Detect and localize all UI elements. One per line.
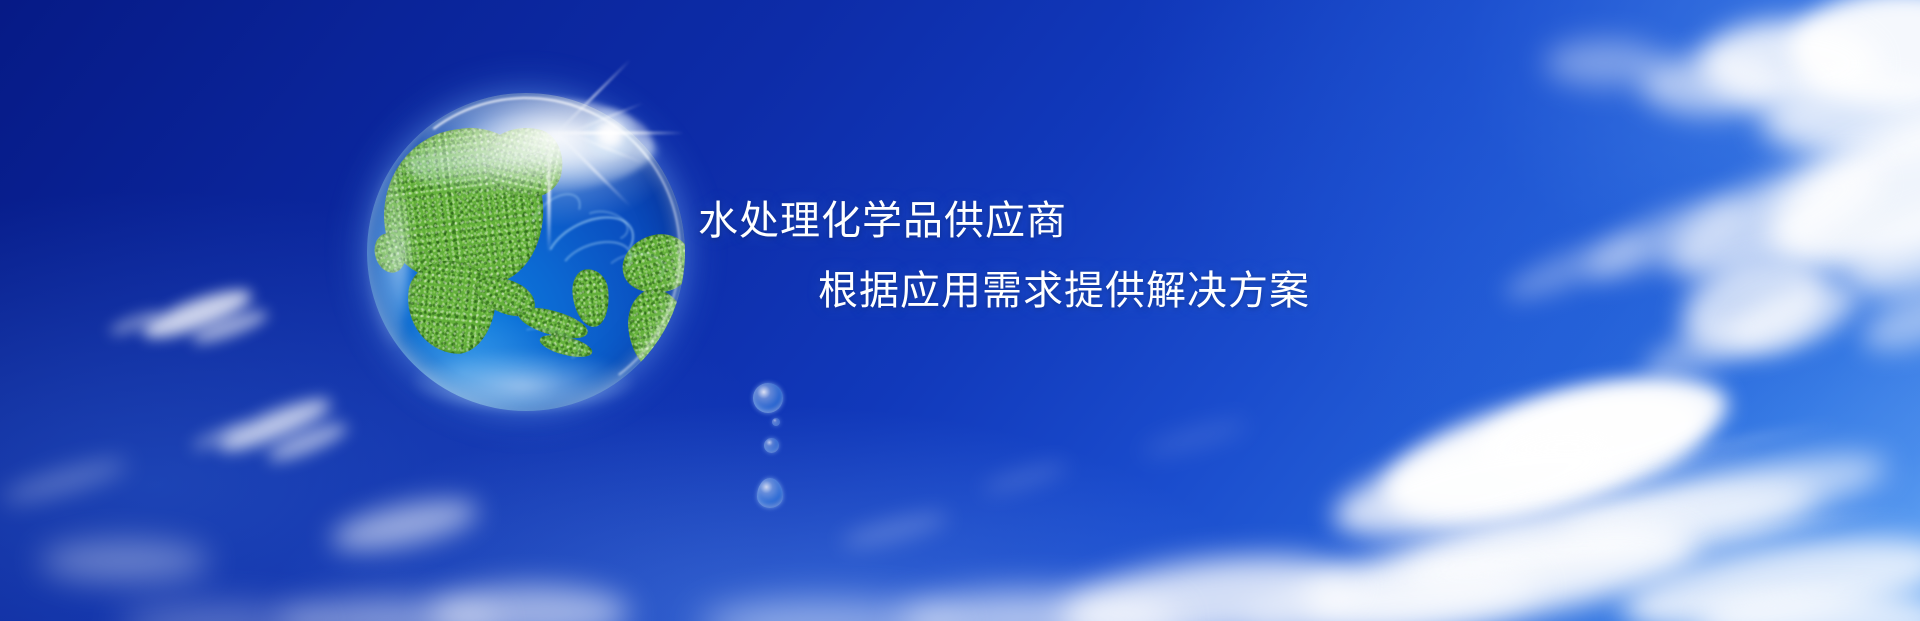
hero-banner: 水处理化学品供应商 根据应用需求提供解决方案: [0, 0, 1920, 621]
headline-line-2: 根据应用需求提供解决方案: [690, 256, 1310, 326]
banner-headline: 水处理化学品供应商 根据应用需求提供解决方案: [690, 186, 1310, 326]
glass-left-edge-highlight: [367, 163, 409, 353]
globe-icon: [367, 93, 685, 411]
water-droplet: [772, 418, 780, 426]
water-droplet: [757, 478, 783, 508]
glass-bottom-gloss: [413, 353, 633, 409]
headline-line-1: 水处理化学品供应商: [690, 186, 1310, 256]
sparkle-ray: [548, 133, 551, 253]
water-droplet: [753, 383, 783, 413]
water-droplet: [764, 438, 779, 453]
